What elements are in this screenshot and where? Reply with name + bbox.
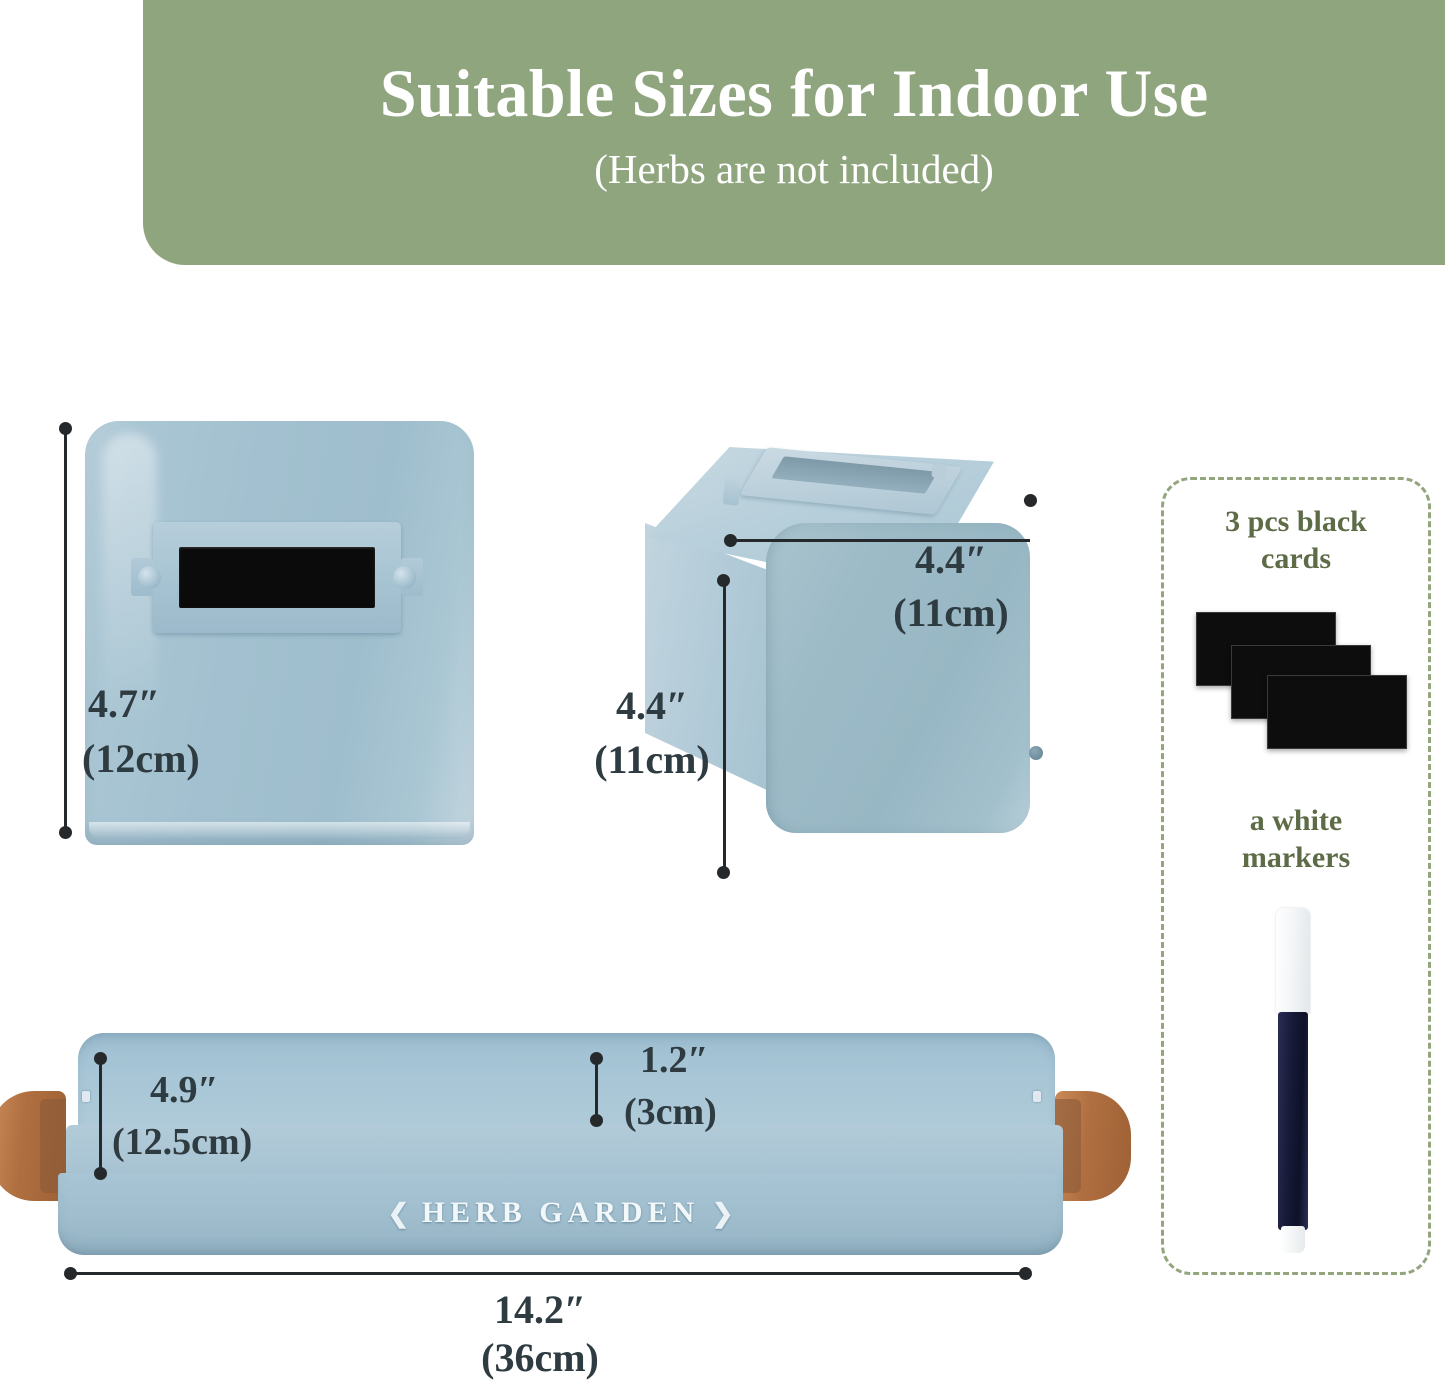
handle-screw-right [1033,1091,1041,1102]
dimension-label-front-height-in: 4.7″ [88,680,160,727]
dimension-dot-tray-depth-bottom [590,1114,603,1127]
marker-cap [1276,908,1310,1014]
dimension-dot-tray-length-left [64,1267,77,1280]
dimension-dot-depth-left [724,534,737,547]
dimension-dot-tray-width-top [94,1052,107,1065]
dimension-line-persp-height [723,580,726,872]
dimension-dot-bottom [59,826,72,839]
infographic-canvas: Suitable Sizes for Indoor Use (Herbs are… [0,0,1445,1382]
dimension-label-tray-depth-cm: (3cm) [624,1090,717,1135]
dimension-dot-persp-height-bottom [717,866,730,879]
dimension-line-tray-length [70,1272,1025,1275]
drainage-hole-icon [1029,746,1043,760]
dimension-dot-top [59,422,72,435]
dimension-label-tray-depth-in: 1.2″ [640,1038,709,1083]
page-subtitle: (Herbs are not included) [594,145,994,193]
dimension-label-persp-depth-cm: (11cm) [836,589,1066,636]
dimension-label-persp-height-cm: (11cm) [586,736,718,783]
dimension-label-front-height-cm: (12cm) [82,735,200,782]
handle-screw-left [82,1091,90,1102]
marker-barrel [1278,1012,1308,1230]
black-cards-label-line1: 3 pcs black [1164,504,1428,541]
top-card-holder-slot [771,456,937,493]
leather-handle-right [1055,1091,1131,1201]
dimension-label-tray-width-in: 4.9″ [150,1068,219,1113]
dimension-label-persp-depth-in: 4.4″ [836,536,1066,583]
rivet-right [393,566,416,589]
black-card-3 [1267,675,1407,749]
leather-handle-left [0,1091,66,1201]
brand-name: HERB GARDEN [422,1196,700,1229]
perspective-planter-image [632,447,1044,877]
marker-tip [1281,1226,1305,1253]
dimension-line-tray-depth [595,1058,598,1120]
rivet-left [138,566,161,589]
dimension-label-tray-width-cm: (12.5cm) [112,1120,252,1165]
ornament-right-icon: ❯ [712,1199,734,1228]
white-marker-label-line2: markers [1164,840,1428,877]
tray-brand-text: ❮ HERB GARDEN ❯ [58,1196,1063,1230]
black-cards-label: 3 pcs black cards [1164,504,1428,577]
dimension-dot-persp-height-top [717,574,730,587]
header-banner: Suitable Sizes for Indoor Use (Herbs are… [143,0,1445,265]
black-cards-label-line2: cards [1164,541,1428,578]
black-chalk-card [179,547,375,608]
top-card-holder-tab [722,474,741,506]
dimension-label-tray-length-cm: (36cm) [380,1334,700,1381]
white-marker-label: a white markers [1164,803,1428,876]
top-card-holder-pin [931,463,946,478]
card-holder-frame [153,522,401,633]
dimension-line-front-height [64,428,67,832]
planter-base-rim [89,822,470,839]
dimension-line-tray-width [99,1058,102,1173]
dimension-dot-tray-length-right [1019,1267,1032,1280]
accessories-panel: 3 pcs black cards a white markers [1161,477,1431,1275]
white-marker-pen [1276,908,1310,1253]
dimension-dot-tray-width-bottom [94,1167,107,1180]
page-title: Suitable Sizes for Indoor Use [380,58,1209,129]
white-marker-label-line1: a white [1164,803,1428,840]
black-cards-stack [1196,612,1410,752]
dimension-label-persp-height-in: 4.4″ [592,682,712,729]
ornament-left-icon: ❮ [387,1199,409,1228]
dimension-label-tray-length-in: 14.2″ [380,1286,700,1333]
dimension-dot-tray-depth-top [590,1052,603,1065]
